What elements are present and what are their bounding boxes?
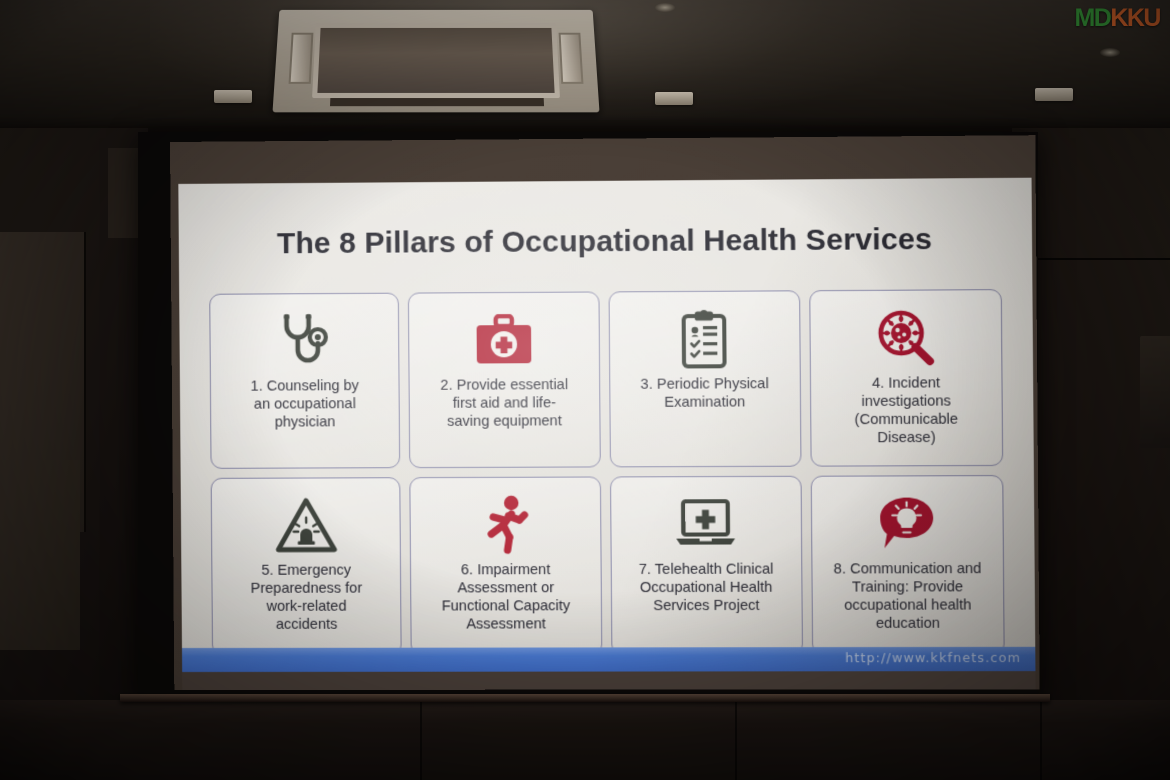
pillar-card-3[interactable]: 3. Periodic Physical Examination — [608, 290, 801, 467]
pillar-card-8[interactable]: 8. Communication and Training: Provide o… — [810, 475, 1004, 655]
page-title: The 8 Pillars of Occupational Health Ser… — [179, 222, 1032, 262]
downlight-icon — [655, 3, 675, 12]
stethoscope-icon — [278, 308, 331, 374]
ac-vent-left — [289, 33, 314, 84]
pillar-card-label: 7. Telehealth Clinical Occupational Heal… — [639, 562, 774, 617]
pillars-grid: 1. Counseling by an occupational physici… — [209, 289, 1004, 656]
ceiling-air-conditioner — [272, 10, 599, 112]
pillar-card-label: 3. Periodic Physical Examination — [640, 376, 769, 413]
ceiling — [0, 0, 1170, 132]
wall-panel-left-lower — [0, 460, 80, 650]
pillar-card-5[interactable]: 5. Emergency Preparedness for work-relat… — [211, 477, 402, 656]
mdkku-watermark-logo: MD KKU — [1074, 6, 1160, 31]
pillar-card-label: 4. Incident investigations (Communicable… — [854, 375, 958, 448]
ac-center-panel — [312, 23, 560, 98]
wall-seam — [420, 700, 422, 780]
presentation-slide: The 8 Pillars of Occupational Health Ser… — [178, 178, 1035, 672]
pillar-card-6[interactable]: 6. Impairment Assessment or Functional C… — [410, 476, 602, 655]
watermark-md-text: MD — [1074, 6, 1110, 31]
running-person-icon — [480, 492, 531, 558]
pillar-card-label: 2. Provide essential first aid and life-… — [440, 377, 568, 432]
pillar-card-label: 5. Emergency Preparedness for work-relat… — [250, 563, 362, 635]
sprinkler-icon — [655, 92, 693, 105]
sprinkler-icon — [214, 90, 252, 103]
wall-speaker — [1140, 336, 1170, 448]
projection-screen-surface: The 8 Pillars of Occupational Health Ser… — [170, 135, 1040, 690]
pillar-card-label: 6. Impairment Assessment or Functional C… — [441, 562, 570, 634]
virus-magnifier-icon — [876, 305, 936, 372]
pillar-card-2[interactable]: 2. Provide essential first aid and life-… — [408, 291, 600, 468]
ac-vent-right — [559, 33, 584, 84]
screen-unused-area-bottom — [182, 671, 1035, 690]
clipboard-checklist-icon — [681, 306, 728, 373]
warning-triangle-beacon-icon — [274, 492, 337, 558]
pillar-card-label: 8. Communication and Training: Provide o… — [834, 561, 982, 634]
watermark-kku-text: KKU — [1110, 6, 1160, 31]
sprinkler-icon — [1035, 88, 1073, 101]
pillar-card-4[interactable]: 4. Incident investigations (Communicable… — [809, 289, 1003, 467]
laptop-medical-cross-icon — [673, 491, 738, 558]
slide-footer-bar: http://www.kkfnets.com — [182, 647, 1035, 672]
conference-room-photo: The 8 Pillars of Occupational Health Ser… — [0, 0, 1170, 780]
pillar-card-label: 1. Counseling by an occupational physici… — [251, 378, 360, 432]
pillar-card-1[interactable]: 1. Counseling by an occupational physici… — [209, 293, 400, 469]
wall-seam — [735, 700, 737, 780]
footer-url: http://www.kkfnets.com — [845, 650, 1021, 665]
speech-bubble-lightbulb-icon — [877, 490, 937, 557]
pillar-card-7[interactable]: 7. Telehealth Clinical Occupational Heal… — [610, 476, 803, 656]
wall-below-screen — [0, 700, 1170, 780]
screen-bottom-rail — [120, 694, 1050, 702]
downlight-icon — [1100, 48, 1120, 57]
first-aid-kit-icon — [474, 307, 533, 374]
wall-seam — [1040, 700, 1042, 780]
